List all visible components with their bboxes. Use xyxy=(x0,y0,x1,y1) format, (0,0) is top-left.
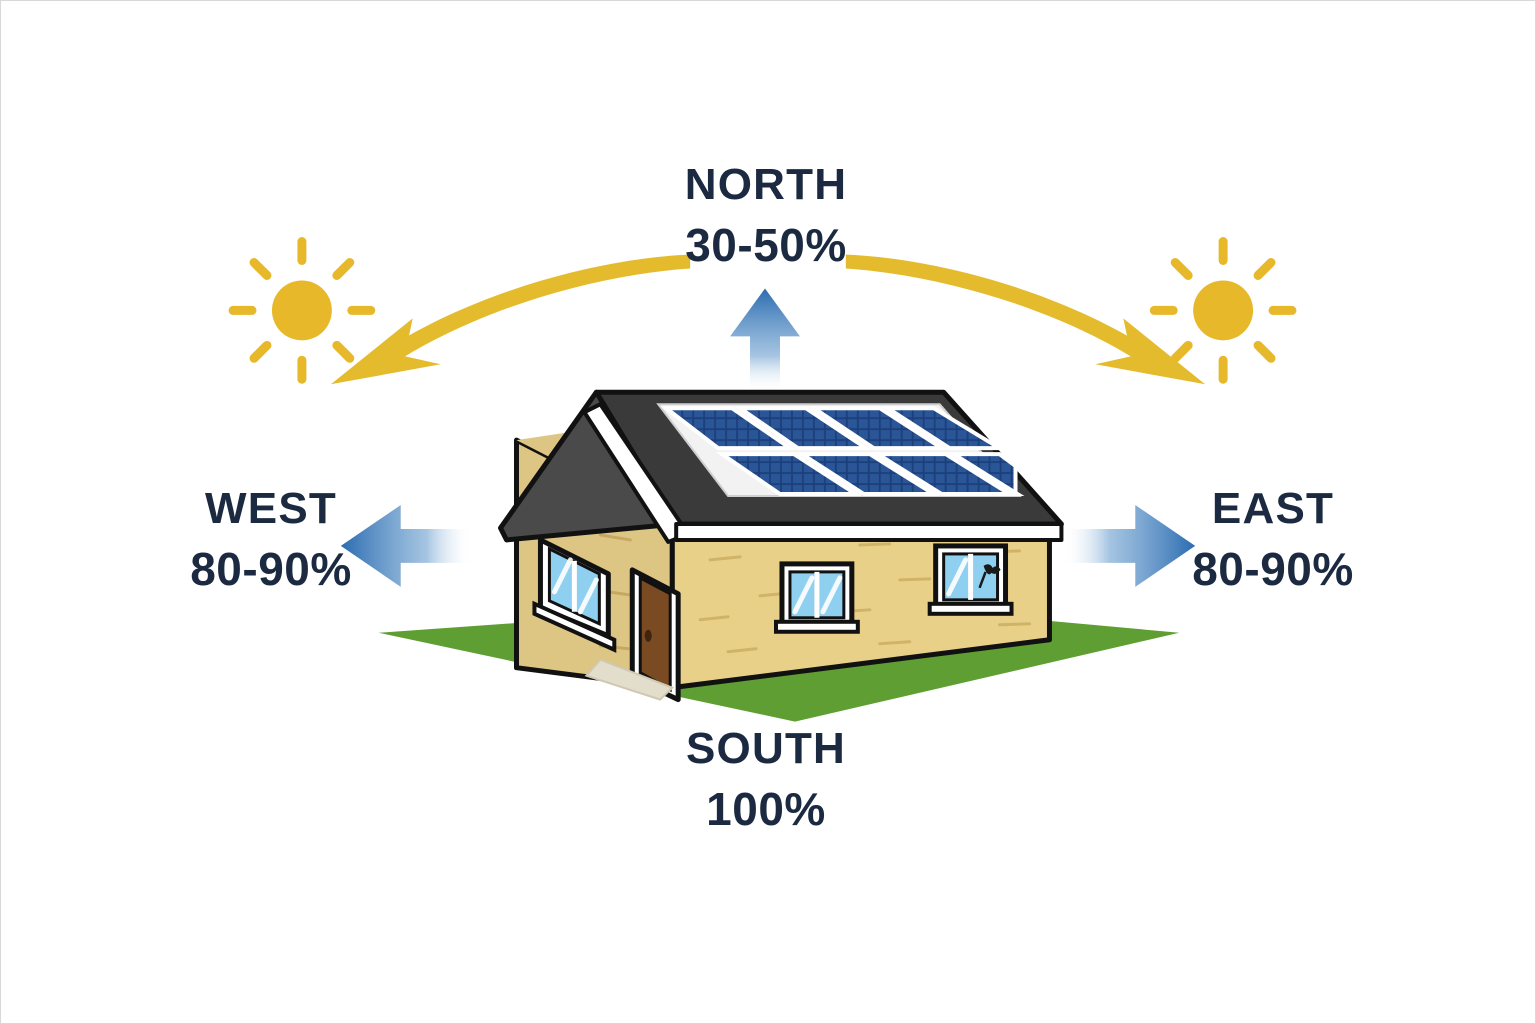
window-side-left xyxy=(776,564,858,632)
label-south-direction: SOUTH xyxy=(611,725,921,773)
sun-icon-left xyxy=(233,242,371,380)
label-south-efficiency: 100% xyxy=(611,785,921,835)
arrow-up-icon xyxy=(730,288,800,392)
label-north-direction: NORTH xyxy=(611,161,921,209)
label-east-direction: EAST xyxy=(1123,485,1423,533)
label-south: SOUTH 100% xyxy=(611,725,921,834)
sun-path-arrow-right-icon xyxy=(846,255,1205,385)
sun-path-arrow-left-icon xyxy=(331,255,690,385)
label-east-efficiency: 80-90% xyxy=(1123,545,1423,595)
label-west-efficiency: 80-90% xyxy=(121,545,421,595)
label-east: EAST 80-90% xyxy=(1123,485,1423,594)
window-side-right xyxy=(930,546,1012,614)
diagram-canvas: NORTH 30-50% SOUTH 100% WEST 80-90% EAST… xyxy=(0,0,1536,1024)
label-west-direction: WEST xyxy=(121,485,421,533)
label-north-efficiency: 30-50% xyxy=(611,221,921,271)
label-north: NORTH 30-50% xyxy=(611,161,921,270)
sun-icon-right xyxy=(1154,242,1292,380)
label-west: WEST 80-90% xyxy=(121,485,421,594)
